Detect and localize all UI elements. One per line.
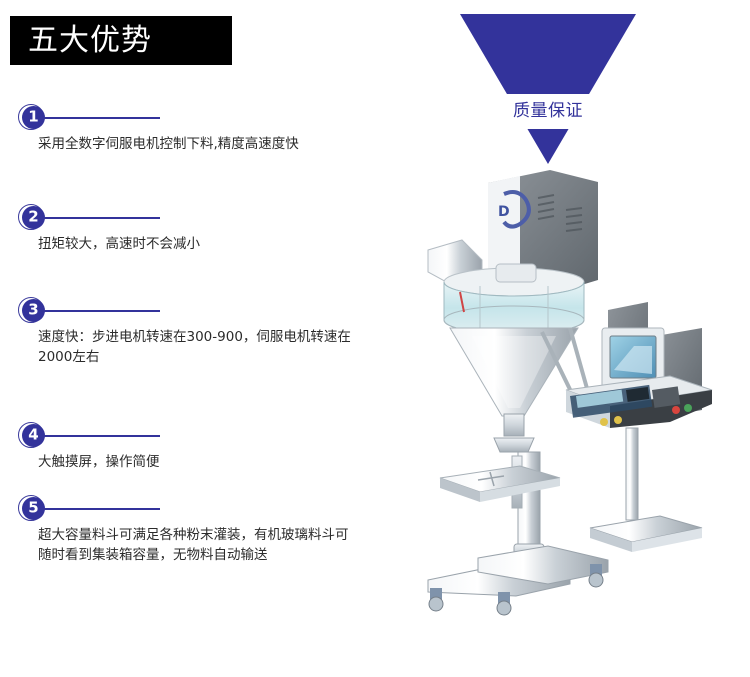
number-badge: 5 (18, 495, 48, 525)
feature-head: 2 (0, 204, 450, 234)
feature-head: 5 (0, 495, 450, 525)
quality-funnel-label-band: 质量保证 (460, 94, 636, 129)
number-badge: 3 (18, 297, 48, 327)
badge-number: 5 (28, 501, 38, 516)
quality-funnel-graphic: 质量保证 (460, 14, 636, 164)
page-root: 五大优势 质量保证 1 采用全数字伺服电机控制下料,精度高速度快 (0, 0, 750, 677)
feature-rule (42, 217, 160, 219)
feature-head: 4 (0, 422, 450, 452)
product-shelf (440, 466, 560, 502)
badge-number: 1 (28, 110, 38, 125)
feature-text: 速度快：步进电机转速在300-900，伺服电机转速在 2000左右 (38, 327, 438, 367)
weighing-scale (566, 376, 712, 552)
quality-funnel-label: 质量保证 (513, 103, 583, 120)
product-photo-filling-machine: D (420, 160, 750, 620)
feature-head: 1 (0, 104, 450, 134)
badge-number: 2 (28, 210, 38, 225)
feature-rule (42, 310, 160, 312)
number-badge: 2 (18, 204, 48, 234)
feature-rule (42, 117, 160, 119)
brand-mark: D (498, 204, 510, 220)
auger-cone (450, 328, 578, 452)
list-item: 5 超大容量料斗可满足各种粉末灌装，有机玻璃料斗可 随时看到集装箱容量，无物料自… (0, 495, 450, 525)
inverted-triangle-icon (460, 14, 636, 164)
badge-number: 3 (28, 303, 38, 318)
feature-rule (42, 435, 160, 437)
feature-text: 超大容量料斗可满足各种粉末灌装，有机玻璃料斗可 随时看到集装箱容量，无物料自动输… (38, 525, 438, 565)
feature-text: 扭矩较大，高速时不会减小 (38, 234, 438, 254)
five-advantages-list: 1 采用全数字伺服电机控制下料,精度高速度快 2 扭矩较大，高速时不会减小 (0, 0, 450, 677)
list-item: 1 采用全数字伺服电机控制下料,精度高速度快 (0, 104, 450, 134)
number-badge: 1 (18, 104, 48, 134)
feature-text: 采用全数字伺服电机控制下料,精度高速度快 (38, 134, 438, 154)
list-item: 3 速度快：步进电机转速在300-900，伺服电机转速在 2000左右 (0, 297, 450, 327)
list-item: 2 扭矩较大，高速时不会减小 (0, 204, 450, 234)
trolley-base (428, 546, 608, 615)
acrylic-hopper (444, 264, 584, 334)
badge-number: 4 (28, 428, 38, 443)
number-badge: 4 (18, 422, 48, 452)
feature-head: 3 (0, 297, 450, 327)
filling-machine-illustration: D (420, 160, 750, 620)
feature-rule (42, 508, 160, 510)
feature-text: 大触摸屏，操作简便 (38, 452, 438, 472)
list-item: 4 大触摸屏，操作简便 (0, 422, 450, 452)
